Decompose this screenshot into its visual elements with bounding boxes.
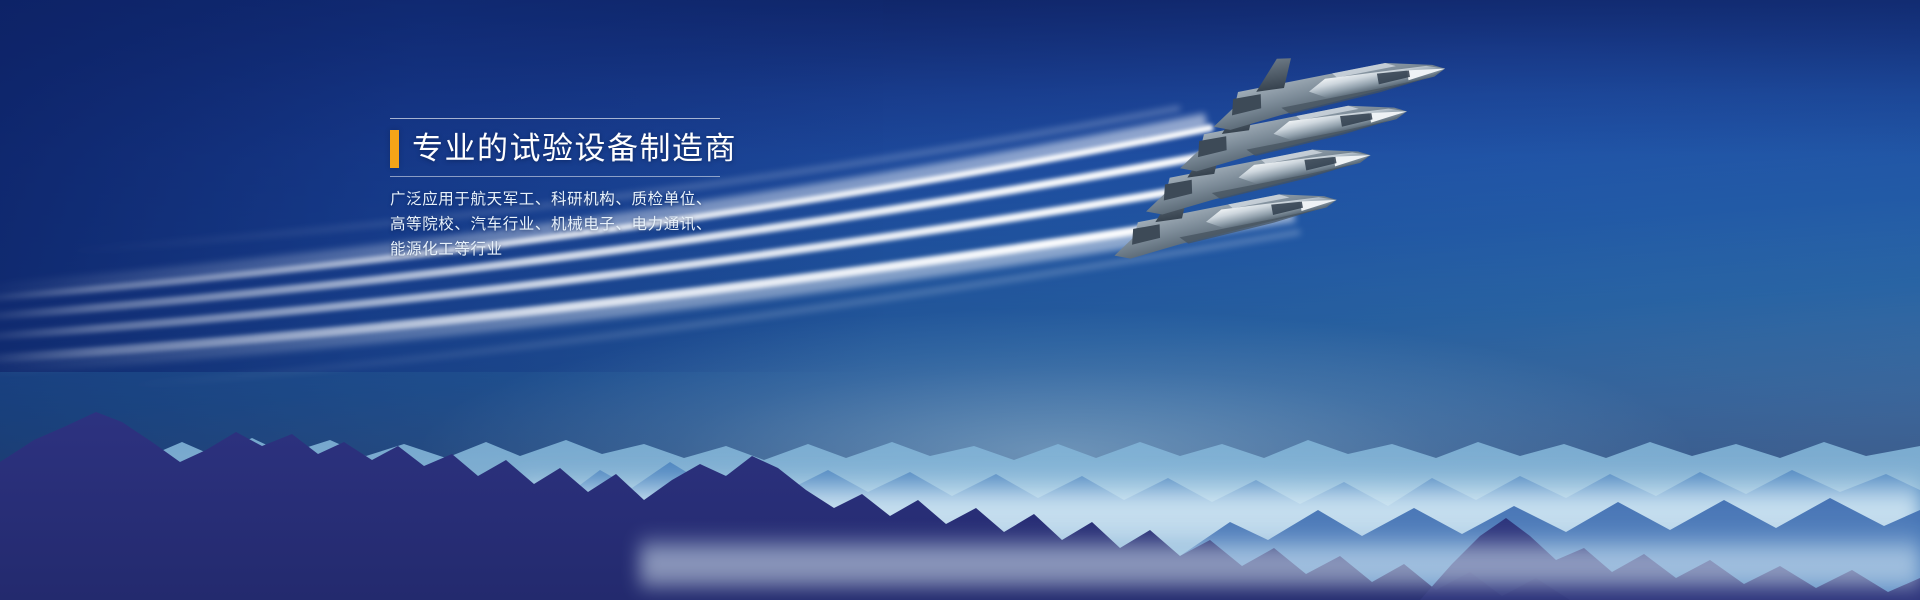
hero-banner: 专业的试验设备制造商 广泛应用于航天军工、科研机构、质检单位、 高等院校、汽车行… — [0, 0, 1920, 600]
subtitle-line-2: 高等院校、汽车行业、机械电子、电力通讯、 — [390, 212, 750, 237]
subtitle-line-1: 广泛应用于航天军工、科研机构、质检单位、 — [390, 187, 750, 212]
fighter-jets-formation — [1120, 30, 1540, 290]
headline-row: 专业的试验设备制造商 — [390, 126, 750, 172]
divider-top — [390, 118, 720, 119]
mist-band-low — [640, 532, 1920, 588]
orange-accent-bar — [390, 130, 399, 168]
divider-bottom — [390, 176, 720, 177]
subtitle-block: 广泛应用于航天军工、科研机构、质检单位、 高等院校、汽车行业、机械电子、电力通讯… — [390, 187, 750, 262]
page-title: 专业的试验设备制造商 — [412, 130, 737, 168]
subtitle-line-3: 能源化工等行业 — [390, 237, 750, 262]
mountain-range — [0, 350, 1920, 600]
banner-copy: 专业的试验设备制造商 广泛应用于航天军工、科研机构、质检单位、 高等院校、汽车行… — [390, 118, 750, 262]
